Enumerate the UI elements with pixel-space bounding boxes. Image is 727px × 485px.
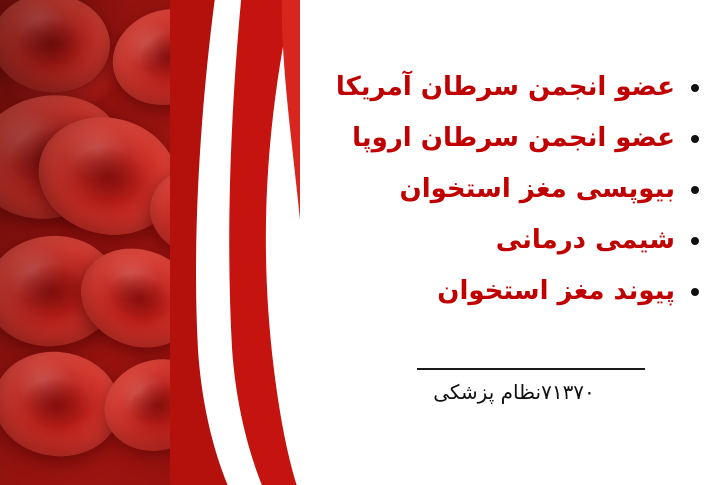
bullet-dot-icon: [691, 288, 699, 296]
list-item-label: بیوپسی مغز استخوان: [303, 174, 675, 205]
divider-rule: [417, 368, 645, 370]
list-item: عضو انجمن سرطان آمریکا: [303, 64, 703, 112]
list-item: بیوپسی مغز استخوان: [303, 166, 703, 214]
license-number: ۷۱۳۷۰: [541, 380, 595, 404]
list-item-label: عضو انجمن سرطان آمریکا: [303, 72, 675, 103]
bullet-dot-icon: [691, 186, 699, 194]
list-item: شیمی درمانی: [303, 217, 703, 265]
bullet-dot-icon: [691, 84, 699, 92]
list-item: پیوند مغز استخوان: [303, 268, 703, 316]
card-content: عضو انجمن سرطان آمریکا عضو انجمن سرطان ا…: [268, 0, 727, 485]
list-item-label: عضو انجمن سرطان اروپا: [303, 123, 675, 154]
bullet-dot-icon: [691, 135, 699, 143]
license-label: نظام پزشکی: [433, 380, 541, 404]
list-item-label: پیوند مغز استخوان: [303, 276, 675, 307]
business-card: عضو انجمن سرطان آمریکا عضو انجمن سرطان ا…: [0, 0, 727, 485]
bullet-dot-icon: [691, 237, 699, 245]
list-item: عضو انجمن سرطان اروپا: [303, 115, 703, 163]
credentials-list: عضو انجمن سرطان آمریکا عضو انجمن سرطان ا…: [303, 64, 703, 319]
medical-license: ۷۱۳۷۰نظام پزشکی: [361, 380, 681, 404]
list-item-label: شیمی درمانی: [303, 225, 675, 256]
